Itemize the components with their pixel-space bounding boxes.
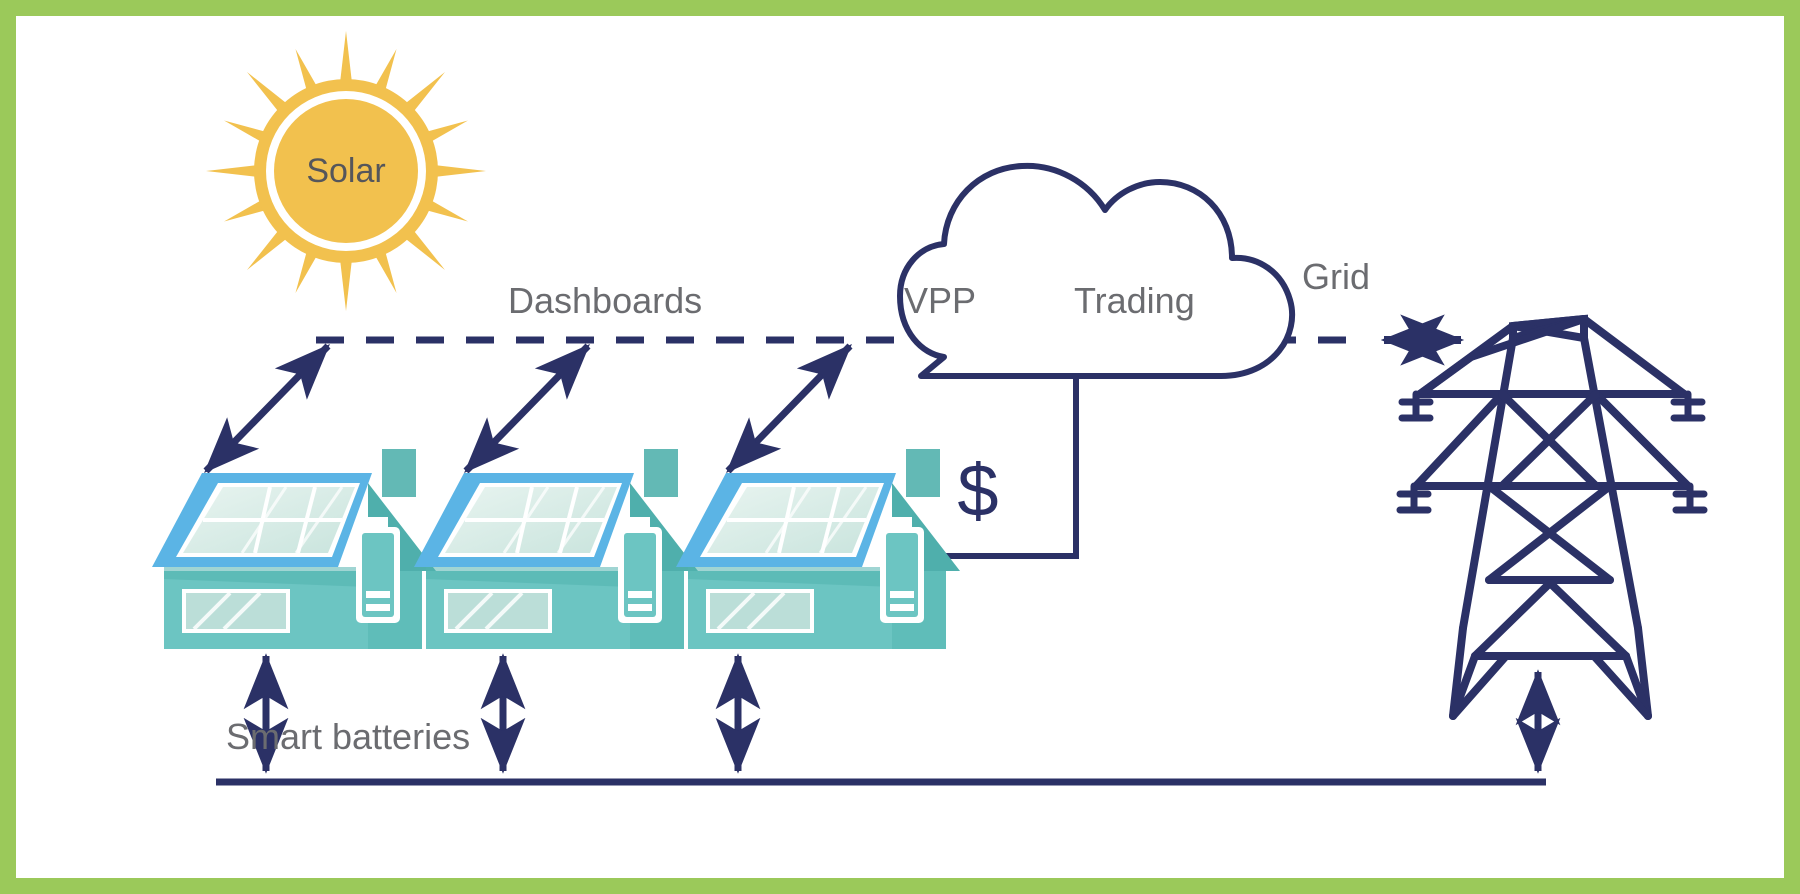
vpp-label: VPP [904, 280, 976, 322]
house-1 [152, 449, 436, 649]
diagram-inner-canvas: $ Solar Dashboards VPP Trading Grid Smar… [16, 16, 1784, 878]
trading-label: Trading [1074, 280, 1195, 322]
diagram-canvas: $ Solar Dashboards VPP Trading Grid Smar… [0, 0, 1800, 894]
smart-batteries-label: Smart batteries [226, 716, 470, 758]
cloud-icon [900, 166, 1292, 376]
transmission-tower-icon [1400, 319, 1704, 716]
dashboard-arrow-house-1 [206, 346, 328, 471]
solar-label-wrap: Solar [231, 56, 461, 286]
solar-label: Solar [306, 152, 385, 191]
dashboard-arrow-house-2 [466, 346, 588, 471]
dashboards-label: Dashboards [508, 280, 702, 322]
house-3 [676, 449, 960, 649]
grid-label: Grid [1302, 256, 1370, 298]
money-symbol: $ [957, 449, 998, 532]
dashboard-arrow-house-3 [728, 346, 850, 471]
house-2 [414, 449, 698, 649]
